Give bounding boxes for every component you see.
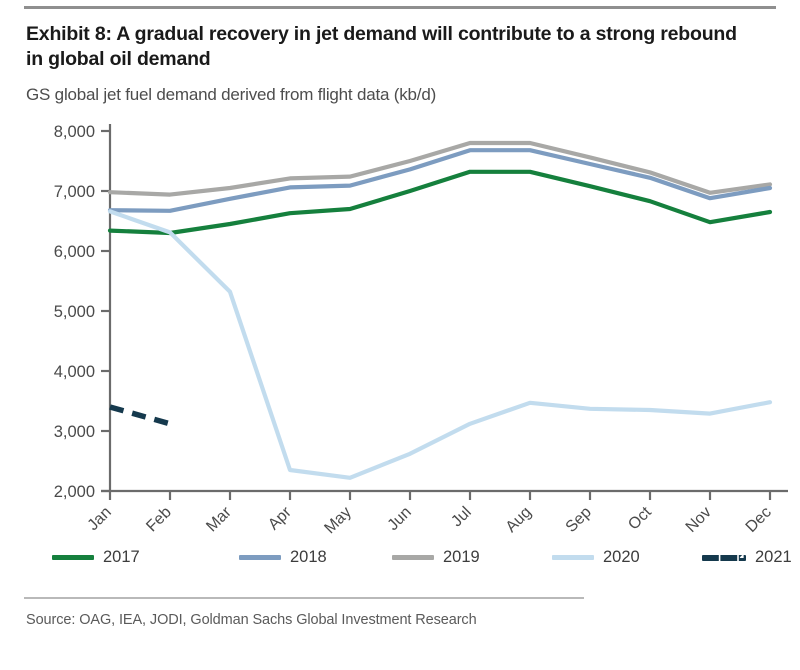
legend-label-2017: 2017 [103, 548, 140, 567]
legend-swatch-2020 [552, 555, 594, 560]
x-tick-label: Jan [85, 504, 115, 534]
source-rule [24, 597, 584, 599]
series-line-2020 [110, 211, 770, 477]
x-tick-label: Dec [743, 504, 775, 536]
chart-plot-area: 2,0003,0004,0005,0006,0007,0008,000JanFe… [0, 112, 800, 542]
exhibit-title: Exhibit 8: A gradual recovery in jet dem… [26, 22, 756, 72]
x-tick-label: Aug [503, 504, 535, 536]
chart-legend: 20172018201920202021 [52, 548, 752, 574]
x-tick-label: Mar [203, 503, 235, 535]
x-tick-label: Apr [265, 503, 295, 533]
x-tick-label: Sep [563, 504, 595, 536]
x-tick-label: Jul [448, 504, 474, 530]
legend-swatch-2018 [239, 555, 281, 560]
y-tick-label: 5,000 [54, 303, 95, 321]
x-tick-label: Nov [683, 504, 715, 536]
legend-swatch-2019 [392, 555, 434, 560]
source-note: Source: OAG, IEA, JODI, Goldman Sachs Gl… [26, 612, 477, 628]
legend-item-2020[interactable]: 2020 [552, 548, 640, 567]
legend-item-2018[interactable]: 2018 [239, 548, 327, 567]
y-tick-label: 4,000 [54, 363, 95, 381]
x-tick-label: Oct [625, 503, 655, 533]
legend-item-2017[interactable]: 2017 [52, 548, 140, 567]
legend-swatch-2017 [52, 555, 94, 560]
legend-label-2018: 2018 [290, 548, 327, 567]
y-tick-label: 3,000 [54, 423, 95, 441]
y-tick-label: 2,000 [54, 483, 95, 501]
legend-item-2021[interactable]: 2021 [702, 548, 792, 567]
top-rule [24, 6, 776, 9]
x-tick-label: Jun [385, 504, 415, 534]
x-tick-label: Feb [143, 504, 175, 536]
x-tick-label: May [321, 504, 354, 537]
line-chart: 2,0003,0004,0005,0006,0007,0008,000JanFe… [0, 112, 800, 542]
legend-label-2019: 2019 [443, 548, 480, 567]
y-tick-label: 6,000 [54, 243, 95, 261]
series-line-2021 [110, 407, 170, 424]
legend-item-2019[interactable]: 2019 [392, 548, 480, 567]
legend-label-2021: 2021 [755, 548, 792, 567]
y-tick-label: 8,000 [54, 123, 95, 141]
legend-label-2020: 2020 [603, 548, 640, 567]
chart-subtitle: GS global jet fuel demand derived from f… [26, 85, 756, 105]
y-tick-label: 7,000 [54, 183, 95, 201]
legend-swatch-2021 [702, 555, 746, 561]
